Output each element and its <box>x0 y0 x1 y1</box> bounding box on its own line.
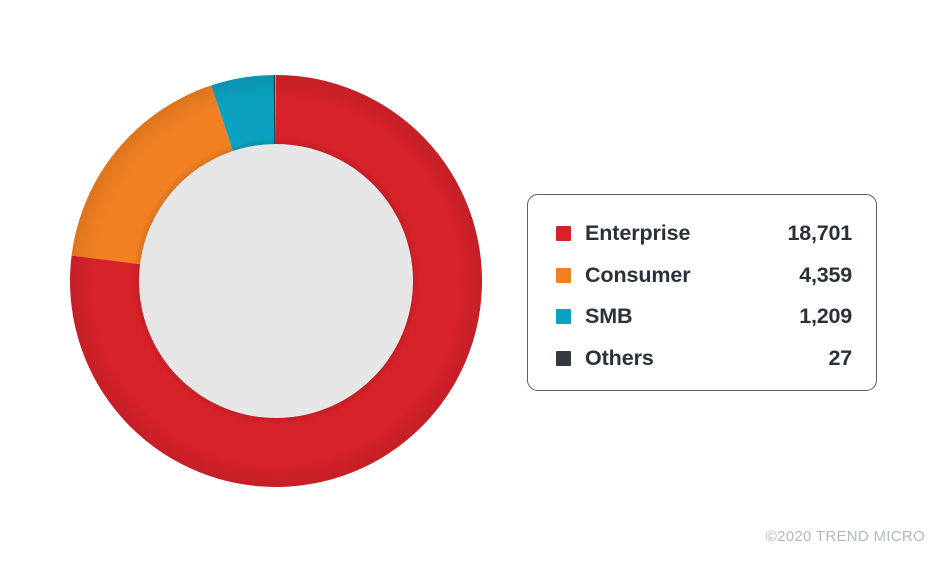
legend-color-swatch-icon <box>556 226 571 241</box>
donut-chart <box>69 74 483 488</box>
legend-item-enterprise[interactable]: Enterprise 18,701 <box>556 213 852 255</box>
legend-color-swatch-icon <box>556 351 571 366</box>
legend-item-label: Consumer <box>585 263 799 288</box>
legend-item-consumer[interactable]: Consumer 4,359 <box>556 255 852 297</box>
legend-item-label: Others <box>585 346 828 371</box>
legend-color-swatch-icon <box>556 268 571 283</box>
legend-color-swatch-icon <box>556 309 571 324</box>
donut-chart-svg <box>69 74 483 488</box>
legend-item-label: SMB <box>585 304 799 329</box>
legend-item-value: 27 <box>828 346 852 371</box>
legend-item-value: 4,359 <box>799 263 852 288</box>
donut-slices <box>70 75 482 487</box>
donut-chart-figure: Enterprise 18,701 Consumer 4,359 SMB 1,2… <box>0 0 947 563</box>
chart-legend: Enterprise 18,701 Consumer 4,359 SMB 1,2… <box>527 194 877 391</box>
legend-item-label: Enterprise <box>585 221 787 246</box>
legend-item-smb[interactable]: SMB 1,209 <box>556 296 852 338</box>
legend-list: Enterprise 18,701 Consumer 4,359 SMB 1,2… <box>556 213 852 379</box>
copyright-notice: ©2020 TREND MICRO <box>766 528 925 545</box>
legend-item-others[interactable]: Others 27 <box>556 338 852 380</box>
legend-item-value: 1,209 <box>799 304 852 329</box>
donut-slice-consumer[interactable] <box>72 85 233 264</box>
legend-item-value: 18,701 <box>787 221 852 246</box>
